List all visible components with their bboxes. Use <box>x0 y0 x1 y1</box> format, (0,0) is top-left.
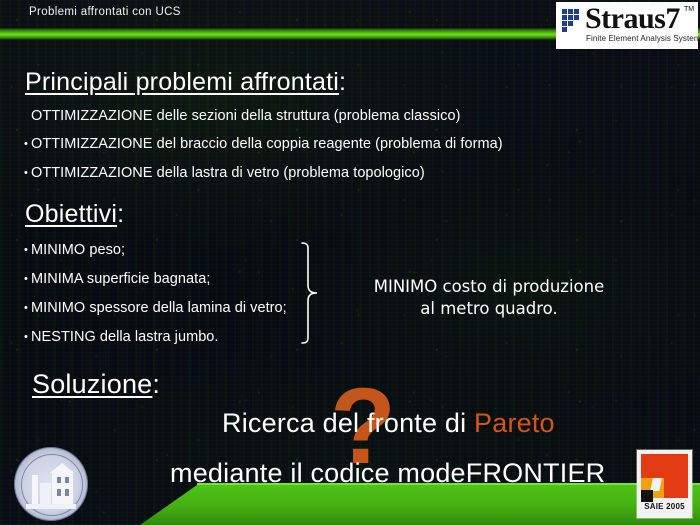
saie-logo-label: SAIE 2005 <box>637 502 692 511</box>
seal-window-icon <box>65 489 69 496</box>
list-item-label: MINIMO spessore della lamina di vetro; <box>31 300 287 316</box>
conclusion-line-1-prefix: Ricerca del fronte di <box>222 408 474 438</box>
seal-window-icon <box>65 477 69 483</box>
list-item-label: NESTING della lastra jumbo. <box>31 329 219 345</box>
seal-window-icon <box>57 477 61 483</box>
straus7-logo: Straus7 TM Finite Element Analysis Syste… <box>556 2 698 49</box>
section-heading-soluzione-colon: : <box>152 369 160 399</box>
bullet-marker: • <box>24 332 31 343</box>
straus7-tagline: Finite Element Analysis System <box>586 34 698 43</box>
list-item-label: OTTIMIZZAZIONE della lastra di vetro (pr… <box>31 165 425 181</box>
section-heading-soluzione-text: Soluzione <box>32 369 152 399</box>
university-seal-logo <box>14 447 88 521</box>
section-heading-obiettivi: Obiettivi: <box>25 200 124 229</box>
seal-base-icon <box>26 504 76 509</box>
list-item-label: MINIMO peso; <box>31 242 125 258</box>
list-item: •MINIMA superficie bagnata; <box>24 272 210 287</box>
list-item-label: OTTIMIZZAZIONE delle sezioni della strut… <box>31 108 460 124</box>
list-item: •NESTING della lastra jumbo. <box>24 330 219 345</box>
seal-building-right-icon <box>52 471 73 505</box>
section-heading-problemi-text: Principali problemi affrontati <box>25 68 339 96</box>
curly-brace-icon <box>297 241 323 345</box>
conclusion-line-1: Ricerca del fronte di Pareto <box>222 408 555 439</box>
bullet-marker: • <box>24 168 31 179</box>
list-item: •MINIMO spessore della lamina di vetro; <box>24 301 287 316</box>
bullet-marker: • <box>24 303 31 314</box>
list-item: OTTIMIZZAZIONE delle sezioni della strut… <box>24 109 460 124</box>
section-heading-obiettivi-text: Obiettivi <box>25 200 117 228</box>
saie-black-shape <box>641 490 653 502</box>
bullet-marker: • <box>24 274 31 285</box>
section-heading-obiettivi-colon: : <box>117 200 124 228</box>
bullet-marker: • <box>24 139 31 150</box>
straus7-grid-icon <box>562 9 583 30</box>
seal-window-icon <box>57 489 61 496</box>
brace-note-line2: al metro quadro. <box>347 298 631 320</box>
list-item: •MINIMO peso; <box>24 243 125 258</box>
brace-note: MINIMO costo di produzione al metro quad… <box>347 276 631 320</box>
list-item-label: MINIMA superficie bagnata; <box>31 271 210 287</box>
list-item-label: OTTIMIZZAZIONE del braccio della coppia … <box>31 136 503 152</box>
slide-header-title: Problemi affrontati con UCS <box>29 6 181 18</box>
bullet-marker: • <box>24 245 31 256</box>
straus7-trademark-icon: TM <box>684 6 694 13</box>
presentation-slide: Problemi affrontati con UCS Straus7 TM F… <box>0 0 700 525</box>
brace-note-line1: MINIMO costo di produzione <box>347 276 631 298</box>
straus7-wordmark: Straus7 <box>585 3 680 35</box>
list-item: •OTTIMIZZAZIONE del braccio della coppia… <box>24 137 503 152</box>
seal-roof-icon <box>50 463 74 473</box>
conclusion-line-2: mediante il codice modeFRONTIER <box>170 458 605 489</box>
section-heading-problemi: Principali problemi affrontati: <box>25 68 346 97</box>
section-heading-problemi-colon: : <box>339 68 346 96</box>
conclusion-highlight-pareto: Pareto <box>474 408 555 438</box>
saie-logo: SAIE 2005 <box>637 450 692 518</box>
section-heading-soluzione: Soluzione: <box>32 369 160 400</box>
seal-building-left-icon <box>40 483 51 505</box>
seal-tower-icon <box>32 475 38 505</box>
list-item: •OTTIMIZZAZIONE della lastra di vetro (p… <box>24 166 425 181</box>
